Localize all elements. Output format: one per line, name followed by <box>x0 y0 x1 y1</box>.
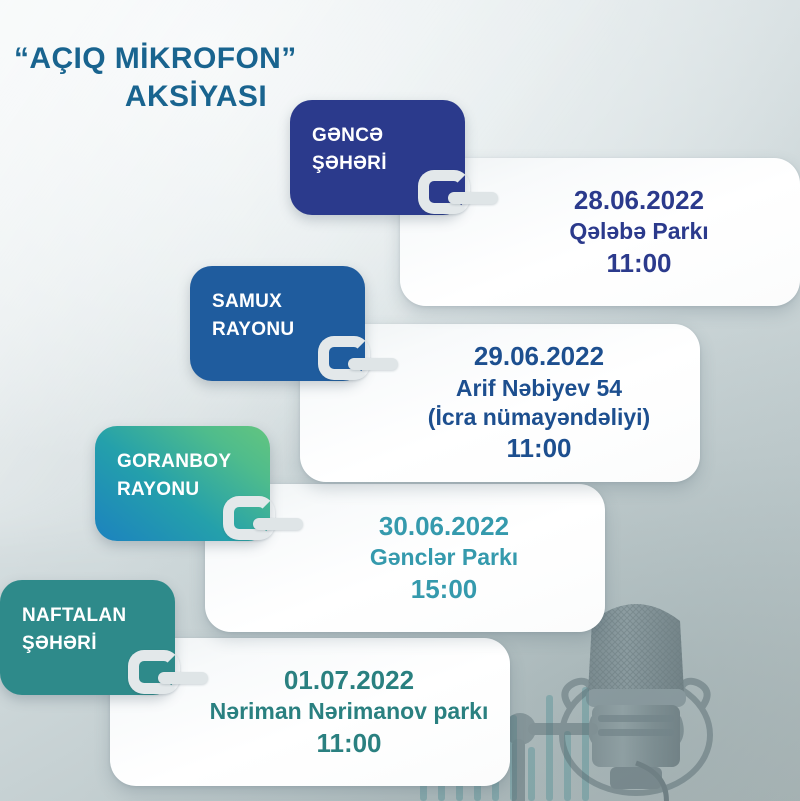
poster-canvas: 28.06.2022 Qələbə Parkı 11:00 GƏNCƏ ŞƏHƏ… <box>0 0 800 801</box>
event-date: 01.07.2022 <box>284 664 414 697</box>
event-place: Nəriman Nərimanov parkı <box>210 697 489 726</box>
event-date: 29.06.2022 <box>474 340 604 373</box>
event-tab-label-line2: ŞƏHƏRİ <box>312 150 465 178</box>
event-time: 15:00 <box>411 573 478 606</box>
event-place: Arif Nəbiyev 54 <box>456 374 622 403</box>
event-tab-label-line1: GƏNCƏ <box>312 122 465 150</box>
event-tab-label-line2: RAYONU <box>212 316 365 344</box>
event-tab-label-line2: ŞƏHƏRİ <box>22 630 175 658</box>
event-date: 30.06.2022 <box>379 510 509 543</box>
event-tab-naftalan[interactable]: NAFTALAN ŞƏHƏRİ <box>0 580 175 695</box>
event-time: 11:00 <box>316 727 381 760</box>
page-title-line1: “AÇIQ MİKROFON” <box>12 40 352 78</box>
page-title-line2: AKSİYASI <box>12 78 352 116</box>
event-tab-samux[interactable]: SAMUX RAYONU <box>190 266 365 381</box>
event-time: 11:00 <box>506 432 571 465</box>
event-tab-goranboy[interactable]: GORANBOY RAYONU <box>95 426 270 541</box>
event-date: 28.06.2022 <box>574 184 704 217</box>
event-tab-label-line2: RAYONU <box>117 476 270 504</box>
event-place-detail: (İcra nümayəndəliyi) <box>428 403 650 432</box>
event-place: Qələbə Parkı <box>569 217 708 246</box>
event-tab-gence[interactable]: GƏNCƏ ŞƏHƏRİ <box>290 100 465 215</box>
event-tab-label-line1: GORANBOY <box>117 448 270 476</box>
event-tab-label-line1: NAFTALAN <box>22 602 175 630</box>
event-time: 11:00 <box>606 247 671 280</box>
event-place: Gənclər Parkı <box>370 543 518 572</box>
event-tab-label-line1: SAMUX <box>212 288 365 316</box>
page-title: “AÇIQ MİKROFON” AKSİYASI <box>12 40 352 115</box>
